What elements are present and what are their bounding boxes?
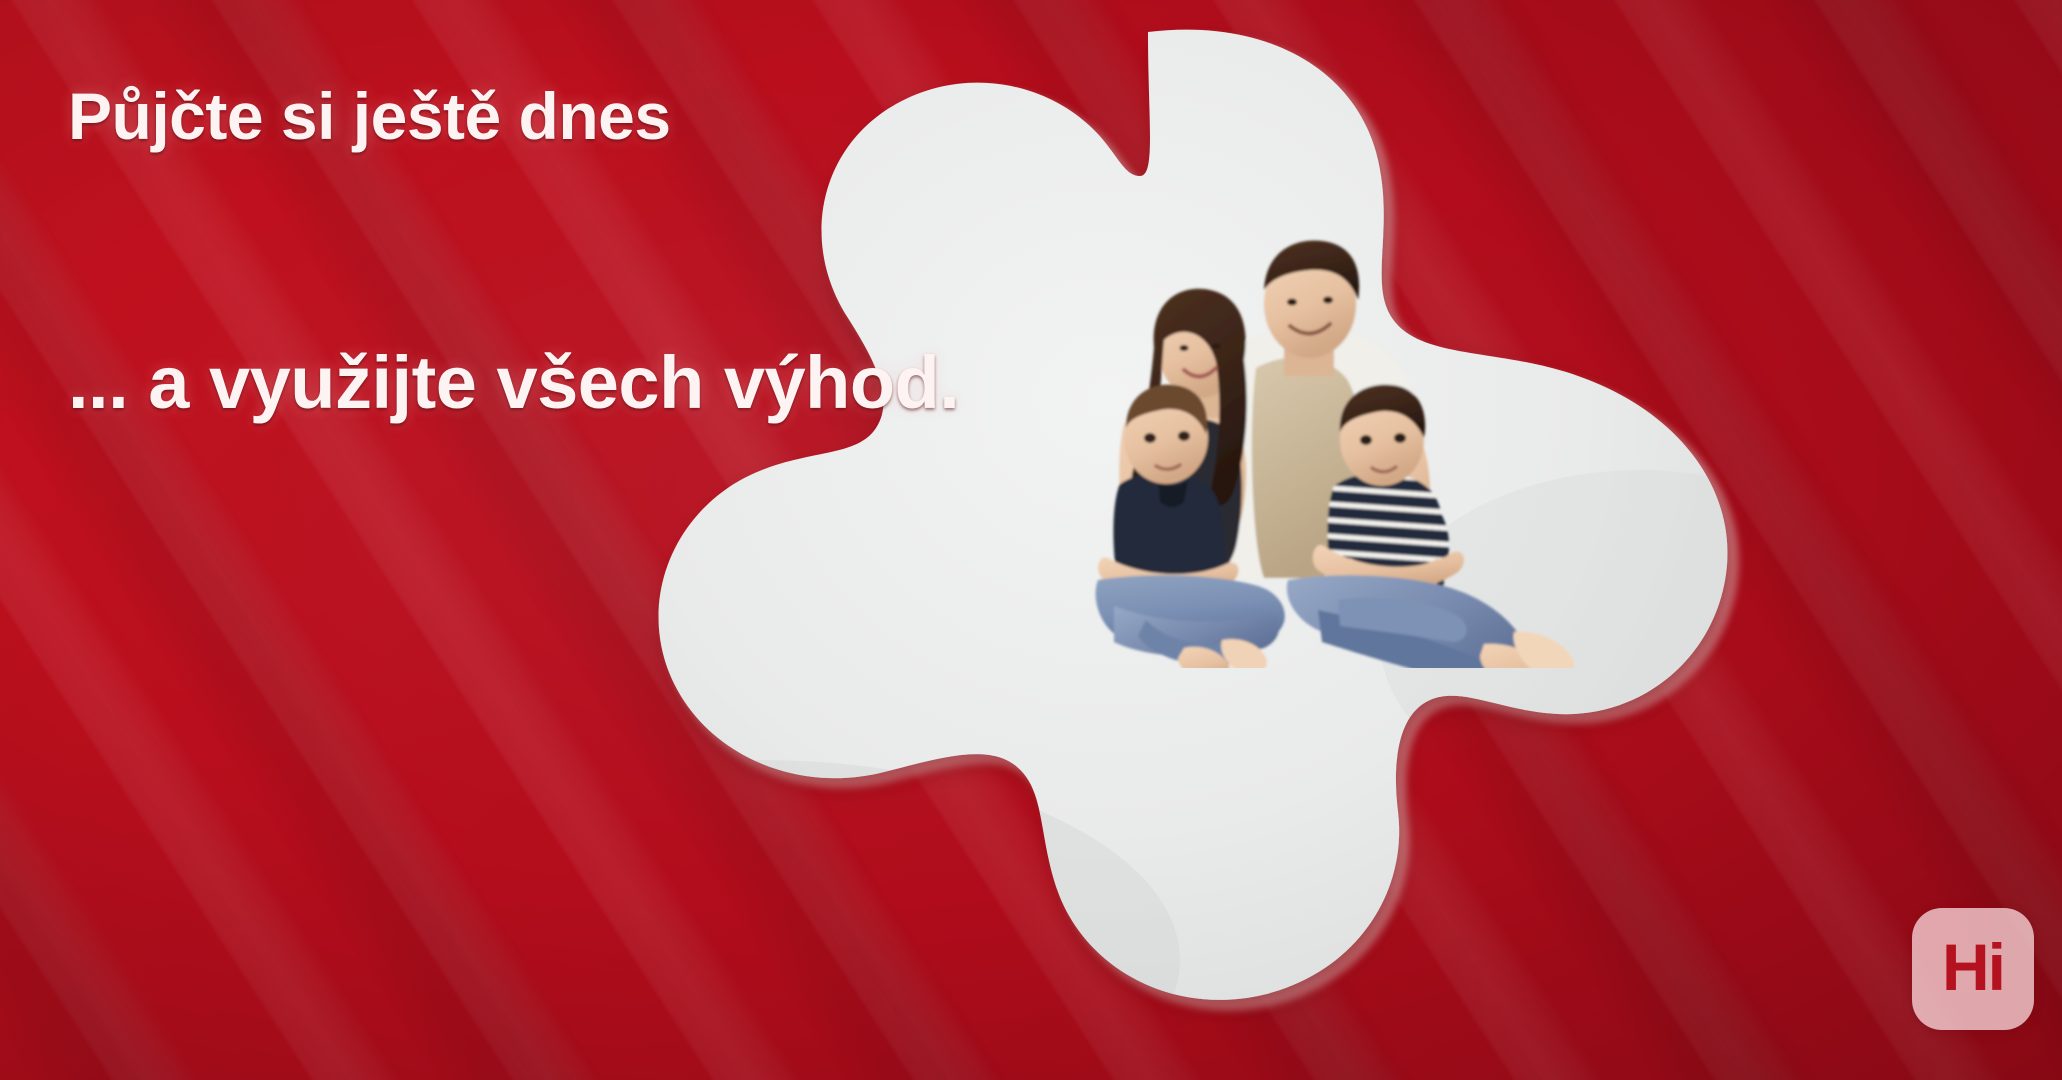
background-vignette — [0, 0, 2062, 1080]
headline-line-1: Půjčte si ještě dnes — [68, 78, 671, 154]
family-jeans — [1096, 575, 1575, 668]
hi-logo[interactable]: Hi — [1912, 908, 2034, 1030]
headline-line-2: ... a využijte všech výhod. — [68, 340, 959, 425]
family-photo — [1088, 228, 1608, 668]
hi-logo-text: Hi — [1942, 934, 2004, 1000]
advertising-banner: Půjčte si ještě dnes ... a využijte všec… — [0, 0, 2062, 1080]
